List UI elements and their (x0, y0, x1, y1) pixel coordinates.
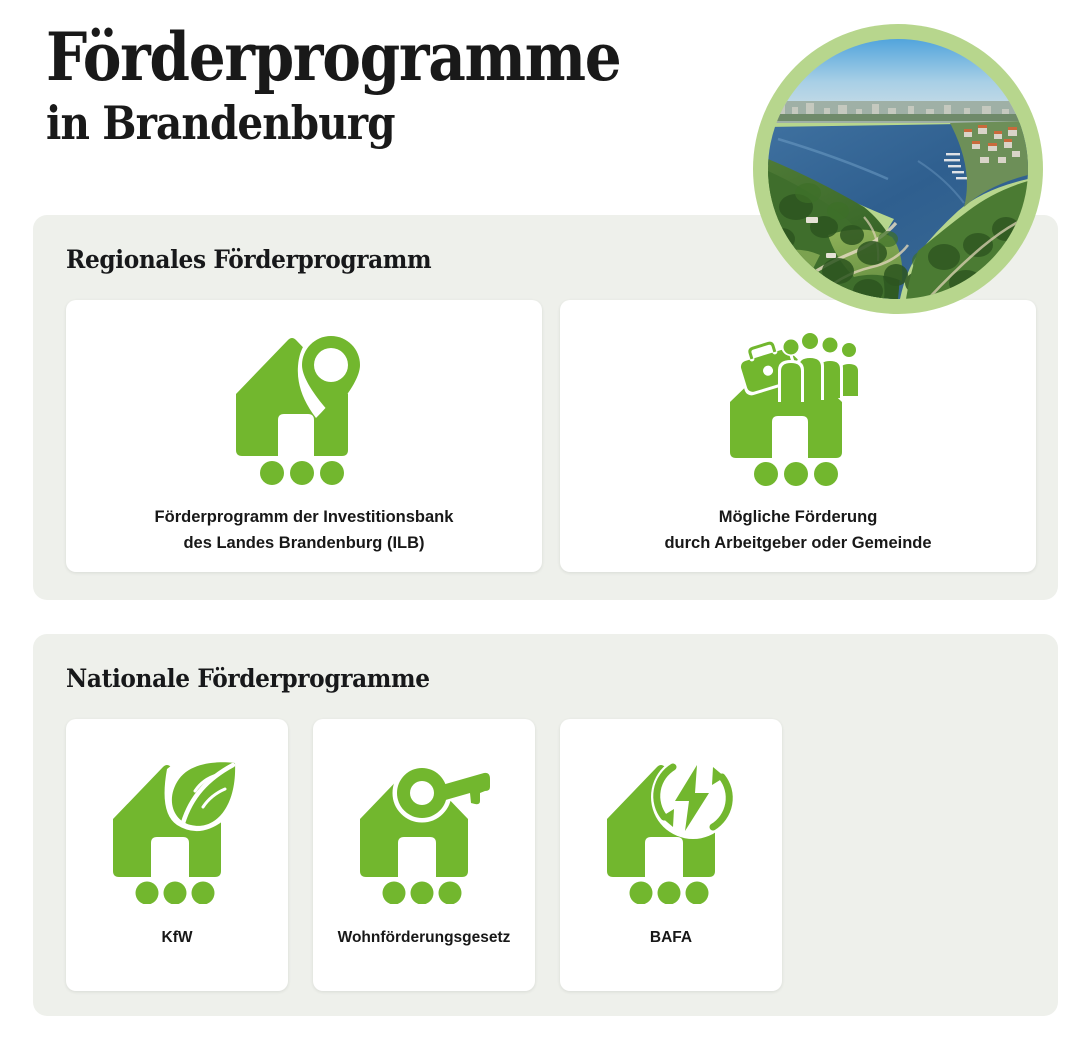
house-leaf-icon (107, 749, 247, 904)
section-title-national: Nationale Förderprogramme (66, 664, 430, 693)
house-location-pin-icon (228, 322, 380, 487)
card-ilb-foerderprogramm[interactable]: Förderprogramm der Investitionsbank des … (66, 300, 542, 572)
card-label-bafa: BAFA (636, 926, 706, 950)
card-bafa[interactable]: BAFA (560, 719, 782, 991)
card-row-regional: Förderprogramm der Investitionsbank des … (66, 300, 1036, 572)
card-label-kfw: KfW (148, 926, 207, 950)
page-title: Förderprogramme (46, 24, 662, 91)
card-label-wohnfoerderungsgesetz: Wohnförderungsgesetz (324, 926, 525, 950)
house-briefcase-people-icon (722, 322, 874, 487)
card-wohnfoerderungsgesetz[interactable]: Wohnförderungsgesetz (313, 719, 535, 991)
photo-circle-frame (753, 24, 1043, 314)
card-kfw[interactable]: KfW (66, 719, 288, 991)
card-label-moegliche-foerderung: Mögliche Förderung durch Arbeitgeber ode… (650, 505, 945, 556)
card-moegliche-foerderung[interactable]: Mögliche Förderung durch Arbeitgeber ode… (560, 300, 1036, 572)
section-nationale-foerderprogramme: Nationale Förderprogramme K (33, 634, 1058, 1016)
page-header: Förderprogramme in Brandenburg (46, 24, 746, 148)
section-title-regional: Regionales Förderprogramm (66, 245, 431, 274)
house-energy-recycle-icon (601, 749, 741, 904)
card-row-national: KfW (66, 719, 782, 991)
aerial-photo-image (768, 39, 1028, 299)
house-key-icon (354, 749, 494, 904)
card-label-ilb: Förderprogramm der Investitionsbank des … (141, 505, 468, 556)
aerial-photo-brandenburg-lake (768, 39, 1028, 299)
page-subtitle: in Brandenburg (46, 99, 662, 147)
